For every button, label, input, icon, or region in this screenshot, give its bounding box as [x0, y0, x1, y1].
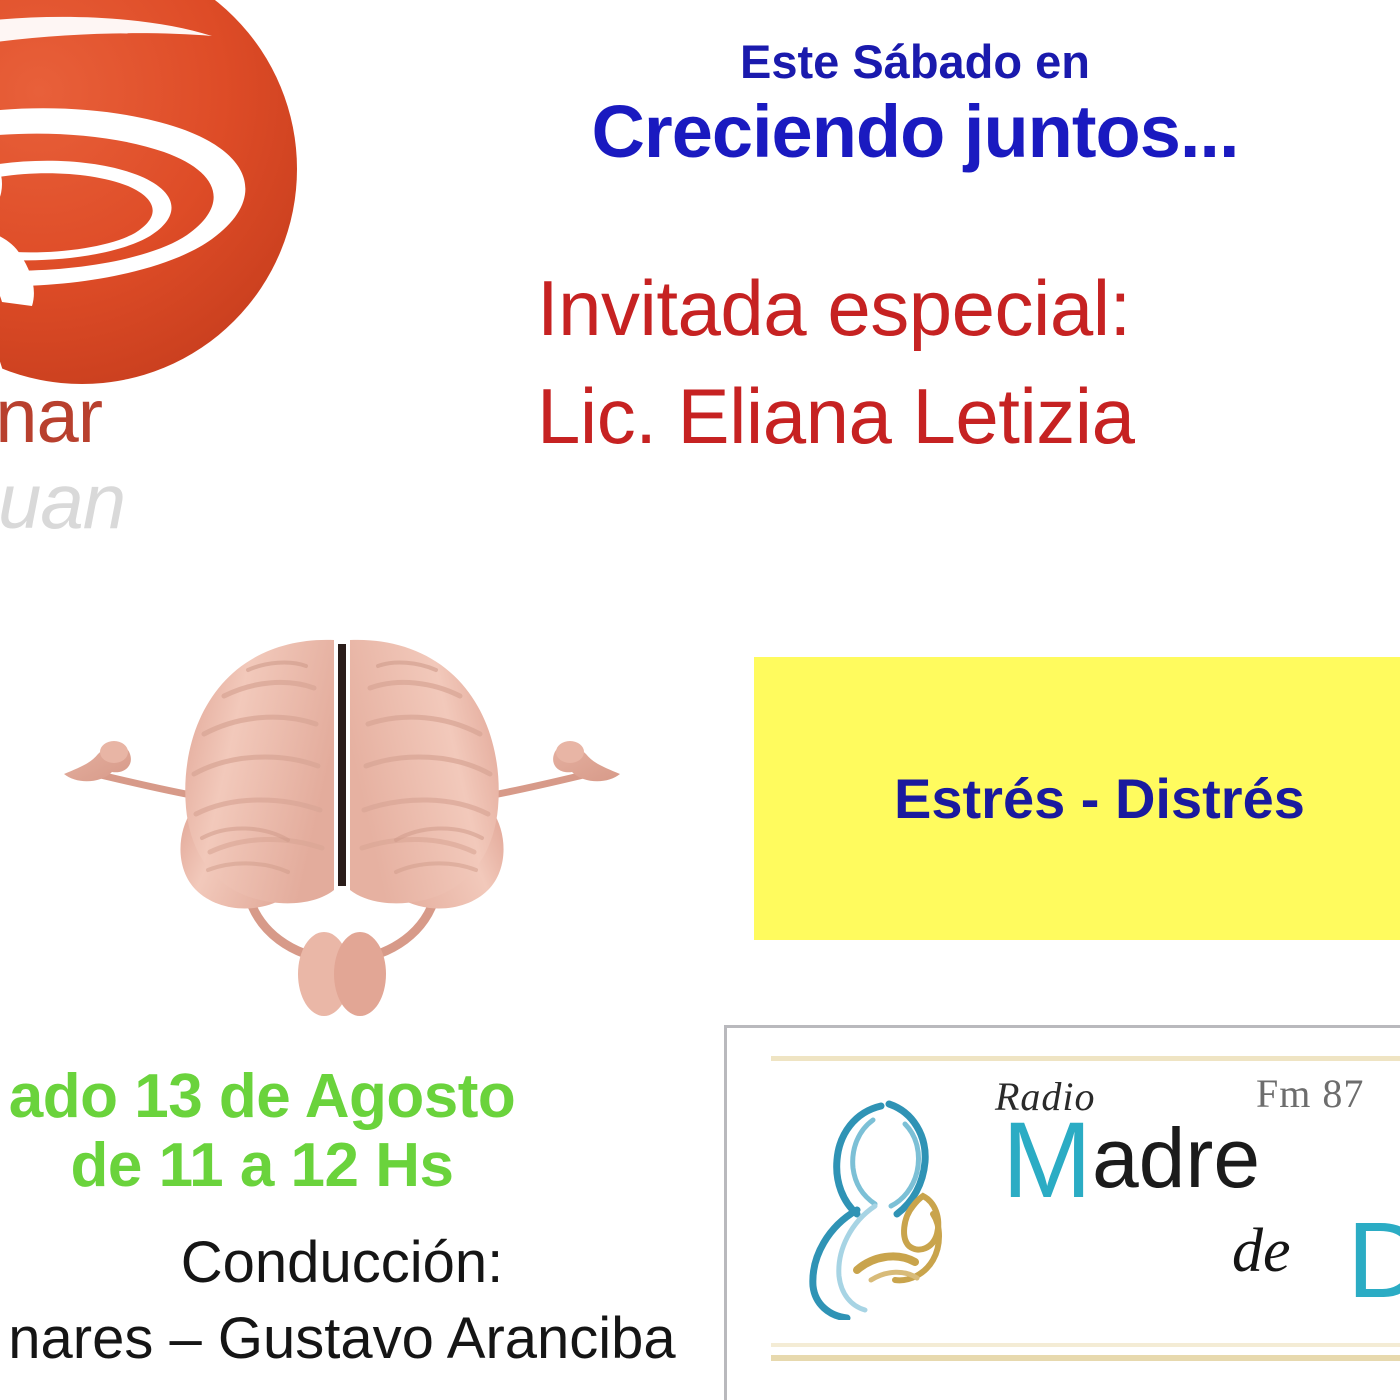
- card-divider-bottom-thin: [771, 1343, 1400, 1347]
- radio-brand-madre: Madre: [1002, 1116, 1260, 1203]
- sanar-san-juan-logo: anar Juan: [0, 0, 302, 614]
- card-divider-top: [771, 1056, 1400, 1061]
- schedule-time: de 11 a 12 Hs: [0, 1131, 562, 1200]
- guest-block: Invitada especial: Lic. Eliana Letizia: [537, 255, 1397, 470]
- schedule-block: ado 13 de Agosto de 11 a 12 Hs: [0, 1062, 562, 1201]
- radio-brand-cap: M: [1002, 1099, 1092, 1220]
- schedule-date: ado 13 de Agosto: [0, 1062, 562, 1131]
- radio-program-promo-poster: anar Juan Este Sábado en Creciendo junto…: [0, 0, 1400, 1400]
- logo-wordmark: anar: [0, 379, 314, 455]
- card-divider-bottom-thick: [771, 1355, 1400, 1361]
- meditating-brain-illustration: [52, 622, 632, 1022]
- header-kicker: Este Sábado en: [430, 36, 1400, 89]
- radio-frequency: Fm 87: [1256, 1070, 1364, 1117]
- guest-label: Invitada especial:: [537, 255, 1397, 363]
- logo-subword: Juan: [0, 462, 320, 540]
- radio-brand-rest: adre: [1092, 1111, 1260, 1205]
- topic-label: Estrés - Distrés: [754, 771, 1400, 827]
- topic-banner: Estrés - Distrés: [754, 657, 1400, 940]
- program-title: Creciendo juntos...: [430, 91, 1400, 172]
- person-in-circle-icon: [0, 0, 302, 394]
- guest-name: Lic. Eliana Letizia: [537, 363, 1397, 471]
- hosts-names: nares – Gustavo Aranciba: [0, 1304, 722, 1374]
- radio-connector: de: [1232, 1220, 1291, 1282]
- radio-brand-second: D: [1347, 1206, 1400, 1314]
- mother-and-child-icon: [785, 1090, 995, 1320]
- hosts-block: Conducción: nares – Gustavo Aranciba: [0, 1228, 722, 1373]
- hosts-label: Conducción:: [0, 1228, 722, 1298]
- poster-header: Este Sábado en Creciendo juntos...: [430, 36, 1400, 172]
- radio-station-card: Radio Madre de D Fm 87: [724, 1025, 1400, 1400]
